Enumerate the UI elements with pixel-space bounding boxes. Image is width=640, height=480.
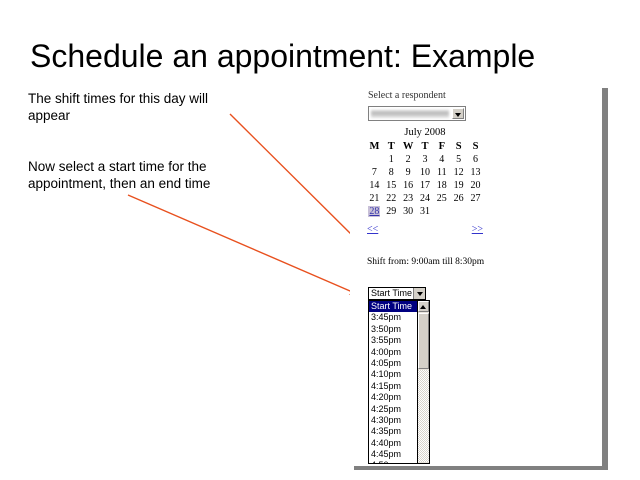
calendar-day[interactable]: 23 bbox=[400, 192, 417, 205]
list-item[interactable]: 4:50pm bbox=[369, 460, 417, 464]
calendar-day[interactable]: 19 bbox=[450, 179, 467, 192]
annotation-text-shift-times: The shift times for this day will appear bbox=[28, 90, 243, 124]
calendar-day[interactable]: 5 bbox=[450, 153, 467, 166]
list-item[interactable]: 3:45pm bbox=[369, 312, 417, 323]
calendar-navigation: << >> bbox=[366, 224, 484, 238]
shift-hours-text: Shift from: 9:00am till 8:30pm bbox=[367, 257, 484, 267]
calendar-weekday-wed: W bbox=[400, 140, 417, 153]
calendar-week-row: 1 2 3 4 5 6 bbox=[366, 153, 484, 166]
calendar-day[interactable]: 30 bbox=[400, 205, 417, 218]
calendar-day[interactable]: 26 bbox=[450, 192, 467, 205]
select-respondent-label: Select a respondent bbox=[368, 90, 446, 101]
calendar-day[interactable]: 1 bbox=[383, 153, 400, 166]
arrow-to-calendar bbox=[230, 114, 360, 243]
arrow-to-start-time bbox=[128, 195, 357, 294]
list-item[interactable]: 3:55pm bbox=[369, 335, 417, 346]
list-item[interactable]: 4:20pm bbox=[369, 392, 417, 403]
calendar-day-selected-label: 28 bbox=[368, 206, 380, 217]
calendar-table: M T W T F S S 1 2 bbox=[366, 140, 484, 218]
start-time-option-list[interactable]: Start Time 3:45pm 3:50pm 3:55pm 4:00pm 4… bbox=[368, 300, 430, 464]
calendar-day[interactable]: 8 bbox=[383, 166, 400, 179]
calendar-month-label: July 2008 bbox=[366, 127, 484, 138]
triangle-up-icon[interactable] bbox=[418, 301, 429, 312]
calendar-day[interactable]: 4 bbox=[433, 153, 450, 166]
calendar-weekday-sat: S bbox=[450, 140, 467, 153]
calendar-weekday-tue: T bbox=[383, 140, 400, 153]
calendar-day[interactable]: 7 bbox=[366, 166, 383, 179]
calendar-day[interactable]: 20 bbox=[467, 179, 484, 192]
chevron-down-icon[interactable] bbox=[452, 108, 464, 119]
list-item[interactable]: 4:15pm bbox=[369, 381, 417, 392]
calendar-day[interactable]: 27 bbox=[467, 192, 484, 205]
listbox-scrollbar[interactable] bbox=[417, 301, 429, 463]
calendar-day[interactable]: 2 bbox=[400, 153, 417, 166]
calendar-day bbox=[450, 205, 467, 218]
calendar-day[interactable]: 18 bbox=[433, 179, 450, 192]
list-item[interactable]: 4:05pm bbox=[369, 358, 417, 369]
calendar-widget[interactable]: July 2008 M T W T F S S bbox=[366, 127, 484, 238]
calendar-day[interactable]: 31 bbox=[417, 205, 434, 218]
list-item[interactable]: 4:00pm bbox=[369, 347, 417, 358]
calendar-day[interactable]: 15 bbox=[383, 179, 400, 192]
calendar-day[interactable]: 29 bbox=[383, 205, 400, 218]
list-item[interactable]: 4:25pm bbox=[369, 404, 417, 415]
calendar-week-row: 28 29 30 31 bbox=[366, 205, 484, 218]
calendar-week-row: 14 15 16 17 18 19 20 bbox=[366, 179, 484, 192]
start-time-select[interactable]: Start Time bbox=[368, 287, 426, 300]
calendar-day bbox=[433, 205, 450, 218]
calendar-day[interactable]: 13 bbox=[467, 166, 484, 179]
embedded-screenshot-panel: Select a respondent July 2008 M T W bbox=[350, 84, 602, 466]
calendar-prev-month-link[interactable]: << bbox=[367, 224, 378, 235]
calendar-day[interactable]: 24 bbox=[417, 192, 434, 205]
calendar-day bbox=[467, 205, 484, 218]
page-title: Schedule an appointment: Example bbox=[30, 38, 610, 75]
list-item[interactable]: 4:45pm bbox=[369, 449, 417, 460]
scrollbar-track[interactable] bbox=[418, 370, 429, 462]
respondent-value-redacted bbox=[371, 110, 449, 118]
scrollbar-thumb[interactable] bbox=[418, 313, 429, 369]
calendar-next-month-link[interactable]: >> bbox=[472, 224, 483, 235]
calendar-week-row: 21 22 23 24 25 26 27 bbox=[366, 192, 484, 205]
calendar-day[interactable]: 22 bbox=[383, 192, 400, 205]
calendar-week-row: 7 8 9 10 11 12 13 bbox=[366, 166, 484, 179]
calendar-weekday-fri: F bbox=[433, 140, 450, 153]
annotation-text-select-start-time: Now select a start time for the appointm… bbox=[28, 158, 243, 192]
calendar-day[interactable]: 10 bbox=[417, 166, 434, 179]
list-item[interactable]: 4:40pm bbox=[369, 438, 417, 449]
calendar-day[interactable]: 9 bbox=[400, 166, 417, 179]
start-time-select-value: Start Time bbox=[371, 288, 412, 299]
list-item[interactable]: Start Time bbox=[369, 301, 417, 312]
calendar-weekday-thu: T bbox=[417, 140, 434, 153]
calendar-day[interactable]: 17 bbox=[417, 179, 434, 192]
respondent-select[interactable] bbox=[368, 106, 466, 121]
start-time-options-container: Start Time 3:45pm 3:50pm 3:55pm 4:00pm 4… bbox=[369, 301, 417, 464]
calendar-day[interactable]: 16 bbox=[400, 179, 417, 192]
calendar-day[interactable]: 25 bbox=[433, 192, 450, 205]
list-item[interactable]: 4:30pm bbox=[369, 415, 417, 426]
calendar-header-row: M T W T F S S bbox=[366, 140, 484, 153]
calendar-weekday-sun: S bbox=[467, 140, 484, 153]
calendar-weekday-mon: M bbox=[366, 140, 383, 153]
list-item[interactable]: 4:35pm bbox=[369, 426, 417, 437]
calendar-day[interactable]: 21 bbox=[366, 192, 383, 205]
slide-canvas: Schedule an appointment: Example The shi… bbox=[0, 0, 640, 480]
calendar-day bbox=[366, 153, 383, 166]
list-item[interactable]: 4:10pm bbox=[369, 369, 417, 380]
calendar-day[interactable]: 14 bbox=[366, 179, 383, 192]
chevron-down-icon[interactable] bbox=[413, 288, 425, 299]
list-item[interactable]: 3:50pm bbox=[369, 324, 417, 335]
calendar-day[interactable]: 3 bbox=[417, 153, 434, 166]
calendar-day[interactable]: 6 bbox=[467, 153, 484, 166]
calendar-day-selected[interactable]: 28 bbox=[366, 205, 383, 218]
calendar-day[interactable]: 11 bbox=[433, 166, 450, 179]
calendar-day[interactable]: 12 bbox=[450, 166, 467, 179]
